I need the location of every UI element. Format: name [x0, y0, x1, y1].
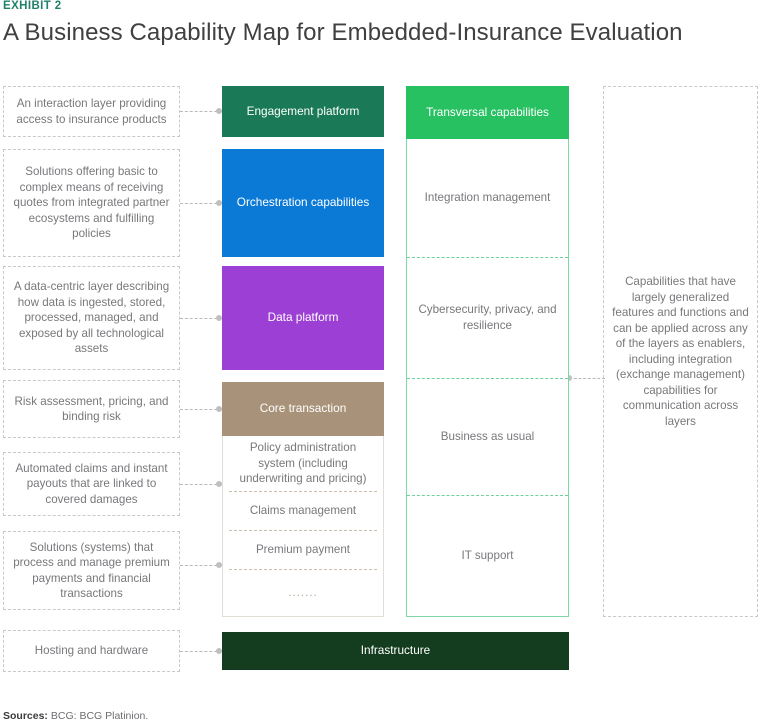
core-item-ellipsis[interactable]: ....... — [223, 569, 383, 616]
exhibit-label: EXHIBIT 2 — [3, 0, 62, 12]
sources-line: Sources: BCG: BCG Platinion. — [3, 710, 148, 722]
core-transaction-group: Core transaction Policy administration s… — [222, 382, 384, 617]
transversal-item-business-as-usual[interactable]: Business as usual — [407, 378, 568, 495]
premium-description: Solutions (systems) that process and man… — [3, 531, 180, 610]
layer-orchestration-capabilities[interactable]: Orchestration capabilities — [222, 149, 384, 257]
page-title: A Business Capability Map for Embedded-I… — [3, 19, 683, 47]
transversal-item-it-support[interactable]: IT support — [407, 495, 568, 616]
core-item-claims-management[interactable]: Claims management — [223, 491, 383, 530]
connector-transversal-right — [569, 378, 605, 379]
transversal-item-integration-management-label: Integration management — [425, 190, 551, 206]
layer-engagement-platform-label: Engagement platform — [247, 104, 360, 120]
layer-infrastructure-label: Infrastructure — [361, 643, 431, 659]
core-item-policy-admin[interactable]: Policy administration system (including … — [223, 436, 383, 491]
transversal-capabilities-group: Transversal capabilities Integration man… — [406, 86, 569, 617]
transversal-description: Capabilities that have largely generaliz… — [603, 86, 758, 617]
core-transaction-description-text: Risk assessment, pricing, and binding ri… — [12, 394, 171, 425]
core-item-claims-management-label: Claims management — [250, 503, 356, 519]
sources-text: BCG: BCG Platinion. — [51, 710, 148, 722]
claims-description-text: Automated claims and instant payouts tha… — [12, 461, 171, 508]
transversal-header[interactable]: Transversal capabilities — [406, 86, 569, 139]
layer-core-transaction[interactable]: Core transaction — [222, 382, 384, 436]
transversal-item-integration-management[interactable]: Integration management — [407, 139, 568, 257]
transversal-description-text: Capabilities that have largely generaliz… — [610, 274, 751, 429]
engagement-description: An interaction layer providing access to… — [3, 86, 180, 137]
transversal-item-cybersecurity[interactable]: Cybersecurity, privacy, and resilience — [407, 257, 568, 378]
layer-engagement-platform[interactable]: Engagement platform — [222, 86, 384, 137]
data-platform-description: A data-centric layer describing how data… — [3, 266, 180, 370]
sources-label: Sources: — [3, 710, 48, 722]
premium-description-text: Solutions (systems) that process and man… — [12, 540, 171, 602]
core-item-ellipsis-label: ....... — [288, 585, 318, 601]
transversal-item-business-as-usual-label: Business as usual — [441, 429, 534, 445]
core-item-policy-admin-label: Policy administration system (including … — [231, 440, 375, 487]
claims-description: Automated claims and instant payouts tha… — [3, 452, 180, 516]
infrastructure-description-text: Hosting and hardware — [35, 643, 148, 659]
core-transaction-description: Risk assessment, pricing, and binding ri… — [3, 380, 180, 438]
infrastructure-description: Hosting and hardware — [3, 630, 180, 672]
layer-infrastructure[interactable]: Infrastructure — [222, 632, 569, 670]
core-item-premium-payment[interactable]: Premium payment — [223, 530, 383, 569]
orchestration-description-text: Solutions offering basic to complex mean… — [12, 164, 171, 242]
core-item-premium-payment-label: Premium payment — [256, 542, 350, 558]
data-platform-description-text: A data-centric layer describing how data… — [12, 279, 171, 357]
transversal-header-label: Transversal capabilities — [426, 105, 549, 121]
layer-orchestration-capabilities-label: Orchestration capabilities — [237, 195, 369, 211]
layer-data-platform-label: Data platform — [268, 310, 339, 326]
orchestration-description: Solutions offering basic to complex mean… — [3, 149, 180, 257]
layer-data-platform[interactable]: Data platform — [222, 266, 384, 370]
transversal-item-cybersecurity-label: Cybersecurity, privacy, and resilience — [417, 302, 558, 333]
engagement-description-text: An interaction layer providing access to… — [12, 96, 171, 127]
layer-core-transaction-label: Core transaction — [260, 401, 347, 417]
transversal-item-it-support-label: IT support — [462, 548, 514, 564]
